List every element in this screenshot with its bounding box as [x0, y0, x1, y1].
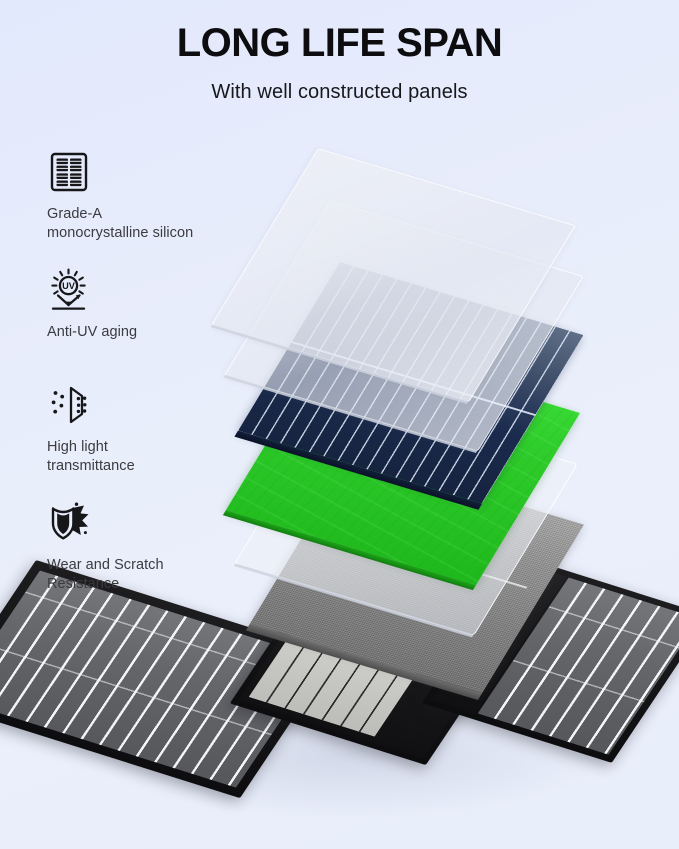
feature-item-wear-scratch: Wear and Scratch Resistance	[47, 501, 262, 601]
svg-text:UV: UV	[62, 281, 76, 291]
feature-label: Anti-UV aging	[47, 323, 262, 342]
shield-impact-icon	[47, 501, 262, 547]
feature-label: High light transmittance	[47, 438, 262, 477]
feature-label: Wear and Scratch Resistance	[47, 556, 262, 595]
feature-label: Grade-A monocrystalline silicon	[47, 205, 262, 244]
anti-uv-sun-icon: UV	[47, 268, 262, 314]
solar-panel-grid-icon	[47, 150, 262, 196]
light-transmittance-icon	[47, 383, 262, 429]
feature-list: Grade-A monocrystalline silicon	[47, 150, 262, 615]
feature-item-grade-a-silicon: Grade-A monocrystalline silicon	[47, 150, 262, 254]
feature-item-anti-uv: UV Anti-UV aging	[47, 268, 262, 369]
infographic-canvas: LONG LIFE SPAN With well constructed pan…	[0, 0, 679, 849]
feature-item-light-transmittance: High light transmittance	[47, 383, 262, 487]
